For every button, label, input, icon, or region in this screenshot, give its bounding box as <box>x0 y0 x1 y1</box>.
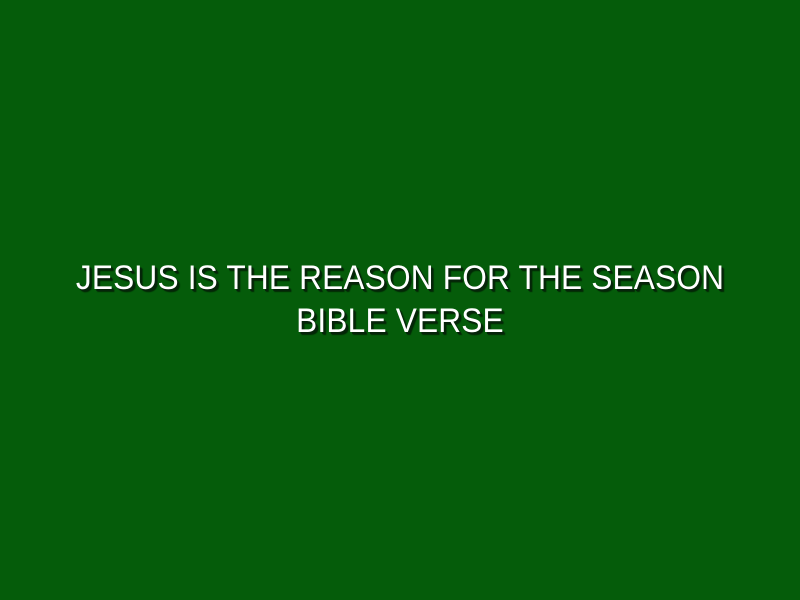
page-title: JESUS IS THE REASON FOR THE SEASON BIBLE… <box>75 257 726 343</box>
banner-canvas: JESUS IS THE REASON FOR THE SEASON BIBLE… <box>0 0 800 600</box>
